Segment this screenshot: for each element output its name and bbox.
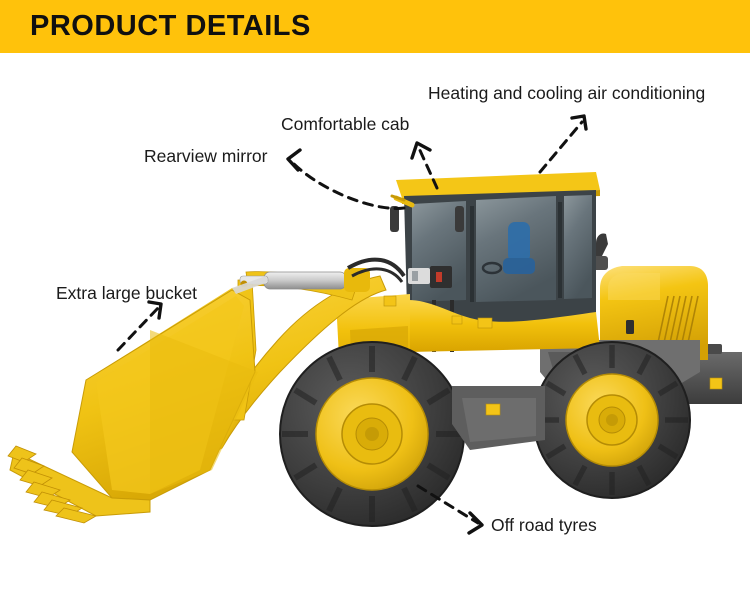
callout-label-comfortable-cab: Comfortable cab (281, 114, 409, 134)
loader-bucket (8, 276, 268, 523)
callout-label-off-road-tyres: Off road tyres (491, 515, 597, 535)
mid-chassis (452, 386, 545, 450)
callout-label-air-conditioning: Heating and cooling air conditioning (428, 83, 705, 103)
mirror-glass-right (455, 206, 464, 232)
cab-rear-glass (564, 195, 592, 299)
callout-label-extra-large-bucket: Extra large bucket (56, 283, 197, 303)
front-wheel (280, 342, 464, 526)
operator-cab (396, 172, 600, 352)
hood-latch (626, 320, 634, 334)
callout-label-rearview-mirror: Rearview mirror (144, 146, 267, 166)
product-details-image: PRODUCT DETAILS (0, 0, 750, 591)
rear-wheel (534, 342, 690, 498)
mirror-glass (390, 206, 399, 232)
